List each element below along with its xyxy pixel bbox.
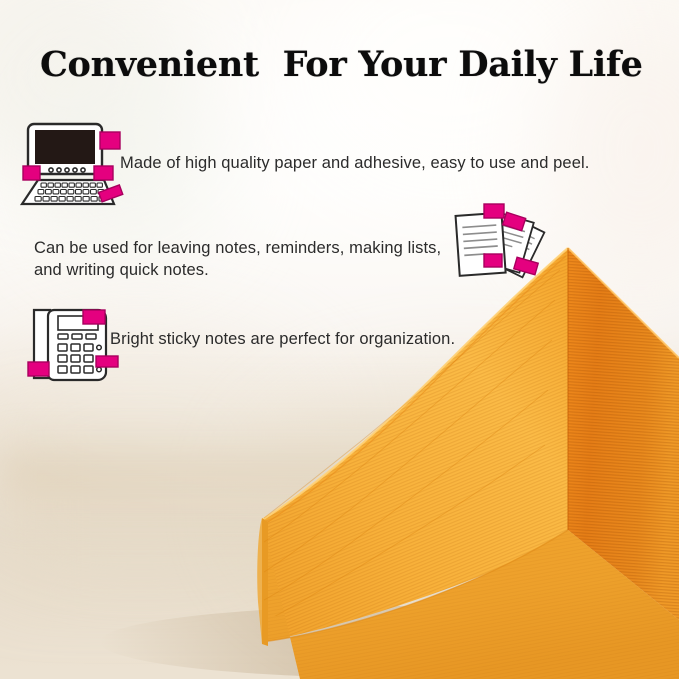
sticky-note-tab <box>83 310 105 324</box>
feature-text-1: Made of high quality paper and adhesive,… <box>120 152 589 174</box>
orange-sticky-note-stack <box>0 230 679 679</box>
product-feature-banner: Convenient For Your Daily Life <box>0 0 679 679</box>
laptop-icon <box>16 118 126 210</box>
feature-text-3: Bright sticky notes are perfect for orga… <box>110 328 455 350</box>
sticky-note-tab <box>23 166 40 180</box>
sticky-note-tab <box>484 204 504 218</box>
sticky-note-tab <box>96 356 118 367</box>
desk-phone-icon <box>26 302 122 390</box>
laptop-screen <box>35 130 95 164</box>
documents-icon <box>452 202 542 294</box>
sticky-note-tab <box>484 254 502 267</box>
feature-text-2: Can be used for leaving notes, reminders… <box>34 237 454 281</box>
sticky-note-tab <box>100 132 120 149</box>
page-title: Convenient For Your Daily Life <box>40 44 643 85</box>
sticky-note-tab <box>94 166 113 180</box>
sticky-note-tab <box>28 362 49 376</box>
